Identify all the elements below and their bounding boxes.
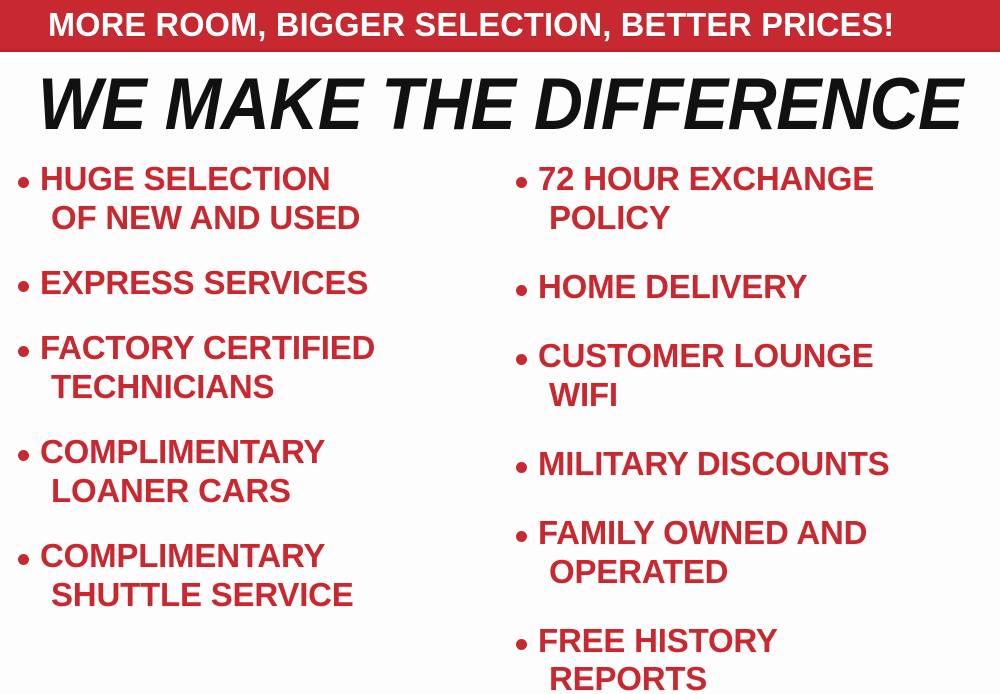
bullet-dot-icon <box>516 285 527 296</box>
benefit-list-item: COMPLIMENTARYLOANER CARS <box>18 433 500 511</box>
benefit-text-line: FAMILY OWNED AND <box>538 514 867 553</box>
benefit-text-line: HUGE SELECTION <box>40 160 360 199</box>
benefit-text-line: SHUTTLE SERVICE <box>40 576 354 615</box>
bullet-dot-icon <box>516 639 527 650</box>
benefit-text-line: POLICY <box>538 199 874 238</box>
benefit-list-item: FAMILY OWNED ANDOPERATED <box>516 514 1000 592</box>
benefits-columns: HUGE SELECTIONOF NEW AND USEDEXPRESS SER… <box>0 160 1000 694</box>
page-title: WE MAKE THE DIFFERENCE <box>0 68 1000 141</box>
bullet-dot-icon <box>18 281 29 292</box>
benefit-list-item: 72 HOUR EXCHANGEPOLICY <box>516 160 1000 238</box>
bullet-dot-icon <box>516 462 527 473</box>
benefit-text-line: FREE HISTORY <box>538 622 778 661</box>
benefit-text-line: MILITARY DISCOUNTS <box>538 445 889 484</box>
benefit-text: HUGE SELECTIONOF NEW AND USED <box>40 160 360 238</box>
benefit-list-item: COMPLIMENTARYSHUTTLE SERVICE <box>18 537 500 615</box>
bullet-dot-icon <box>516 354 527 365</box>
bullet-dot-icon <box>516 531 527 542</box>
bullet-dot-icon <box>18 450 29 461</box>
benefits-column-left: HUGE SELECTIONOF NEW AND USEDEXPRESS SER… <box>0 160 500 640</box>
benefit-text-line: CUSTOMER LOUNGE <box>538 337 874 376</box>
benefit-text: FAMILY OWNED ANDOPERATED <box>538 514 867 592</box>
benefit-list-item: HUGE SELECTIONOF NEW AND USED <box>18 160 500 238</box>
benefit-list-item: MILITARY DISCOUNTS <box>516 445 1000 484</box>
benefit-list-item: CUSTOMER LOUNGEWIFI <box>516 337 1000 415</box>
benefit-text: EXPRESS SERVICES <box>40 264 368 303</box>
benefit-text-line: 72 HOUR EXCHANGE <box>538 160 874 199</box>
benefit-text: COMPLIMENTARYSHUTTLE SERVICE <box>40 537 354 615</box>
benefit-list-item: EXPRESS SERVICES <box>18 264 500 303</box>
benefit-text-line: REPORTS <box>538 660 778 694</box>
benefit-text: MILITARY DISCOUNTS <box>538 445 889 484</box>
benefit-text-line: COMPLIMENTARY <box>40 537 354 576</box>
page-title-text: WE MAKE THE DIFFERENCE <box>37 68 962 141</box>
benefit-text: COMPLIMENTARYLOANER CARS <box>40 433 325 511</box>
benefit-list-item: FACTORY CERTIFIEDTECHNICIANS <box>18 329 500 407</box>
benefit-text-line: TECHNICIANS <box>40 368 375 407</box>
bullet-dot-icon <box>18 177 29 188</box>
benefit-text: 72 HOUR EXCHANGEPOLICY <box>538 160 874 238</box>
benefit-text: FREE HISTORYREPORTS <box>538 622 778 694</box>
benefit-text: CUSTOMER LOUNGEWIFI <box>538 337 874 415</box>
benefit-text-line: EXPRESS SERVICES <box>40 264 368 303</box>
benefit-text-line: OPERATED <box>538 553 867 592</box>
promo-poster: MORE ROOM, BIGGER SELECTION, BETTER PRIC… <box>0 0 1000 694</box>
benefit-text-line: WIFI <box>538 376 874 415</box>
benefit-text-line: FACTORY CERTIFIED <box>40 329 375 368</box>
bullet-dot-icon <box>18 346 29 357</box>
benefit-text-line: LOANER CARS <box>40 472 325 511</box>
benefit-text-line: OF NEW AND USED <box>40 199 360 238</box>
benefit-list-item: FREE HISTORYREPORTS <box>516 622 1000 694</box>
benefits-column-right: 72 HOUR EXCHANGEPOLICYHOME DELIVERYCUSTO… <box>500 160 1000 694</box>
benefit-text-line: HOME DELIVERY <box>538 268 807 307</box>
top-banner: MORE ROOM, BIGGER SELECTION, BETTER PRIC… <box>0 0 1000 52</box>
benefit-list-item: HOME DELIVERY <box>516 268 1000 307</box>
benefit-text: FACTORY CERTIFIEDTECHNICIANS <box>40 329 375 407</box>
bullet-dot-icon <box>516 177 527 188</box>
bullet-dot-icon <box>18 554 29 565</box>
benefit-text: HOME DELIVERY <box>538 268 807 307</box>
benefit-text-line: COMPLIMENTARY <box>40 433 325 472</box>
banner-headline: MORE ROOM, BIGGER SELECTION, BETTER PRIC… <box>48 8 894 41</box>
